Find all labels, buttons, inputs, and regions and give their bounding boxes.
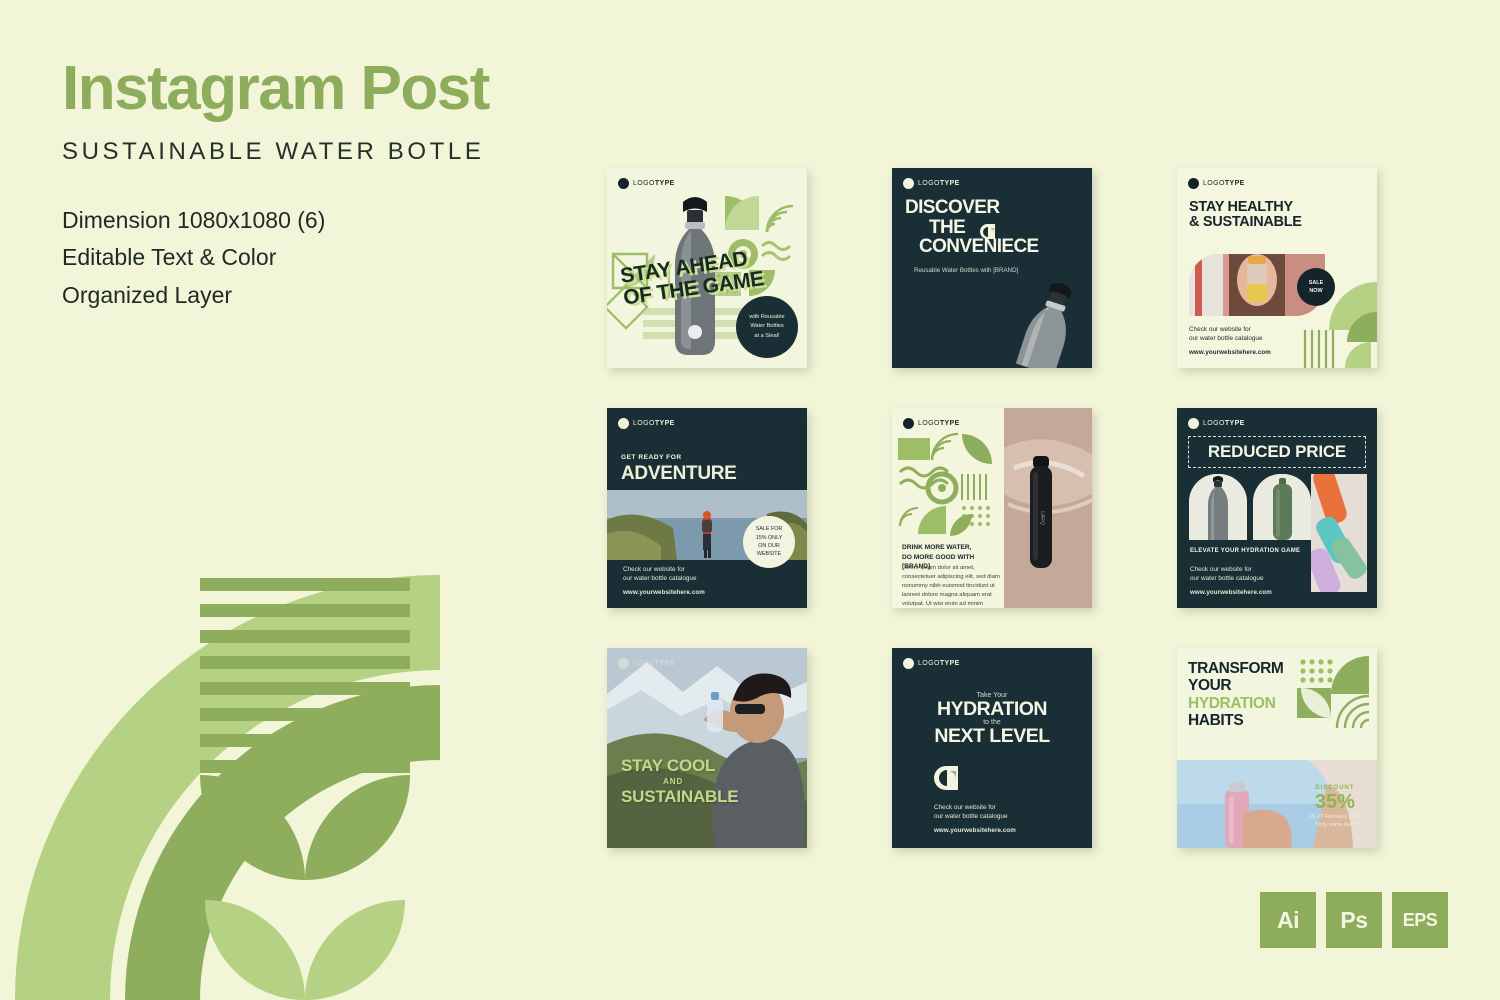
logo-dot-icon: [903, 418, 914, 429]
card1-badge[interactable]: with ReusableWater Bottlesat a Steal!: [736, 296, 798, 358]
logotype: LOGOTYPE: [903, 178, 960, 189]
card6-headline: REDUCED PRICE: [1208, 443, 1346, 461]
card3-headline: STAY HEALTHY & SUSTAINABLE: [1189, 200, 1302, 230]
feature-layers: Organized Layer: [62, 277, 582, 314]
logotype: LOGOTYPE: [1188, 418, 1245, 429]
post-card-discover[interactable]: LOGOTYPE DISCOVER THE CONVENIECE Reusabl…: [892, 168, 1092, 368]
poster-canvas: Instagram Post SUSTAINABLE WATER BOTLE D…: [0, 0, 1500, 1000]
logo-dot-icon: [1188, 418, 1199, 429]
plant-decoration: [0, 560, 440, 1000]
bottle-photo: [1007, 273, 1091, 368]
website-link[interactable]: www.yourwebsitehere.com: [1190, 589, 1272, 596]
logotype: LOGOTYPE: [618, 178, 675, 189]
logotype: LOGOTYPE: [618, 418, 675, 429]
logo-dot-icon: [618, 178, 629, 189]
feature-dimension: Dimension 1080x1080 (6): [62, 202, 582, 239]
card3-sale-badge[interactable]: SALENOW: [1297, 268, 1335, 306]
logotype: LOGOTYPE: [903, 418, 960, 429]
logo-dot-icon: [903, 178, 914, 189]
svg-text:LARQ: LARQ: [1039, 511, 1045, 525]
sand-bottle-photo: LARQ: [1004, 408, 1092, 608]
post-card-transform[interactable]: TRANSFORM YOUR HYDRATION HABITS DI: [1177, 648, 1377, 848]
post-grid: LOGOTYPE STAY AHEAD OF THE GAME with Reu…: [607, 168, 1377, 848]
feature-list: Dimension 1080x1080 (6) Editable Text & …: [62, 202, 582, 314]
bottle-photo-green: [1253, 474, 1311, 540]
black-bottle: LARQ: [1026, 456, 1056, 568]
logotype: LOGOTYPE: [1188, 178, 1245, 189]
brand-mark-icon: [934, 766, 958, 790]
card6-footer: Check our website for our water bottle c…: [1190, 565, 1272, 596]
logotype: LOGOTYPE: [618, 658, 675, 669]
card8-big-top: HYDRATION: [937, 699, 1047, 719]
card7-headline: STAY COOL AND SUSTAINABLE: [621, 756, 738, 807]
post-card-reduced-price[interactable]: LOGOTYPE REDUCED PRICE: [1177, 408, 1377, 608]
post-card-stay-cool[interactable]: LOGOTYPE STAY COOL AND SUSTAINABLE: [607, 648, 807, 848]
logotype: LOGOTYPE: [903, 658, 960, 669]
post-card-stay-healthy[interactable]: LOGOTYPE STAY HEALTHY & SUSTAINABLE: [1177, 168, 1377, 368]
card3-footer: Check our website for our water bottle c…: [1189, 325, 1271, 356]
card2-headline: DISCOVER THE CONVENIECE: [905, 198, 1039, 257]
file-format-badges: Ai Ps EPS: [1260, 892, 1448, 948]
format-badge-eps: EPS: [1392, 892, 1448, 948]
card9-headline: TRANSFORM YOUR HYDRATION HABITS: [1188, 660, 1283, 729]
page-subtitle: SUSTAINABLE WATER BOTLE: [62, 138, 582, 166]
card2-subtitle: Reusable Water Bottles with [BRAND]: [914, 267, 1018, 274]
geometric-pattern: [898, 430, 1000, 538]
card9-discount: DISCOUNT 35% 15-17 February 2023 *only s…: [1309, 785, 1361, 830]
logo-dot-icon: [618, 418, 629, 429]
post-card-next-level[interactable]: LOGOTYPE Take Your HYDRATION to the NEXT…: [892, 648, 1092, 848]
card5-body: Lorem ipsum dolor sit amet, consectetuer…: [902, 564, 1004, 608]
website-link[interactable]: www.yourwebsitehere.com: [623, 589, 705, 596]
page-title: Instagram Post: [62, 58, 582, 120]
colorful-bottles-photo: [1311, 474, 1367, 592]
feature-editable: Editable Text & Color: [62, 239, 582, 276]
format-badge-photoshop: Ps: [1326, 892, 1382, 948]
card8-big-bottom: NEXT LEVEL: [934, 726, 1049, 746]
post-card-drink-more[interactable]: LARQ: [892, 408, 1092, 608]
card4-headline: ADVENTURE: [621, 464, 737, 484]
website-link[interactable]: www.yourwebsitehere.com: [1189, 349, 1271, 356]
card4-footer: Check our website for our water bottle c…: [623, 565, 705, 596]
logo-dot-icon: [1188, 178, 1199, 189]
header-block: Instagram Post SUSTAINABLE WATER BOTLE D…: [62, 58, 582, 314]
card6-tagline: ELEVATE YOUR HYDRATION GAME: [1190, 548, 1300, 554]
website-link[interactable]: www.yourwebsitehere.com: [934, 827, 1016, 834]
geometric-pattern: [1297, 656, 1369, 732]
bottle-photo-grey: [1189, 474, 1247, 540]
card8-footer: Check our website for our water bottle c…: [934, 803, 1016, 834]
card4-sale-badge[interactable]: SALE FOR15% ONLY ON OURWEBSITE: [743, 516, 795, 568]
post-card-stay-ahead[interactable]: LOGOTYPE STAY AHEAD OF THE GAME with Reu…: [607, 168, 807, 368]
man-drinking-photo: [607, 648, 807, 848]
logo-dot-icon: [903, 658, 914, 669]
logo-dot-icon: [618, 658, 629, 669]
card6-headline-box: REDUCED PRICE: [1188, 436, 1366, 468]
post-card-adventure[interactable]: LOGOTYPE GET READY FOR ADVENTURE: [607, 408, 807, 608]
format-badge-illustrator: Ai: [1260, 892, 1316, 948]
card4-kicker: GET READY FOR: [621, 454, 682, 461]
